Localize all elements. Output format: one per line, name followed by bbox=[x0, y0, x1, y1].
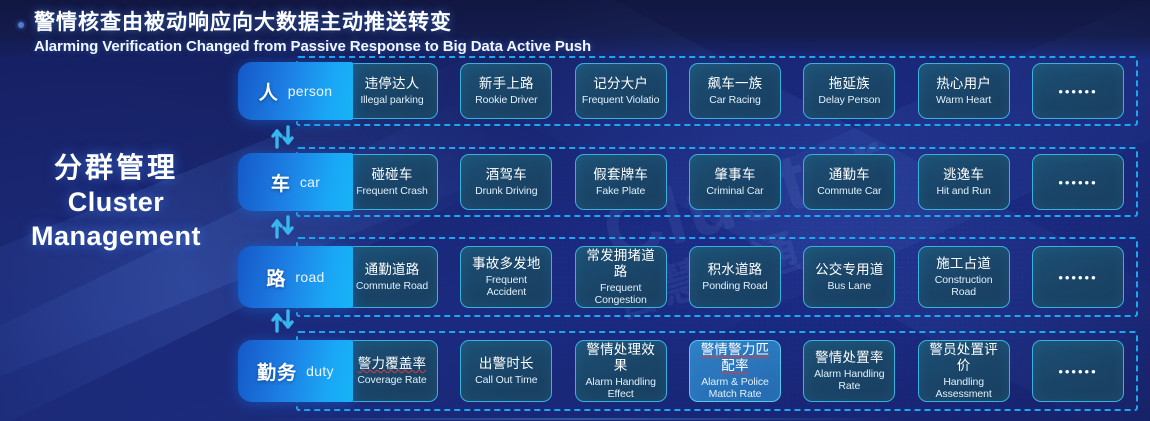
card-label-en: Ponding Road bbox=[702, 280, 767, 292]
cluster-card[interactable]: 违停达人Illegal parking bbox=[346, 63, 438, 119]
card-label-cn: 积水道路 bbox=[708, 262, 763, 278]
row-badge-label-en: person bbox=[288, 83, 333, 99]
card-more[interactable]: •••••• bbox=[1032, 63, 1124, 119]
card-label-en: Frequent Accident bbox=[465, 274, 547, 299]
card-label-en: Bus Lane bbox=[828, 280, 872, 292]
cluster-card[interactable]: 热心用户Warm Heart bbox=[918, 63, 1010, 119]
card-label-en: Frequent Violatio bbox=[582, 94, 660, 106]
page-title-en: Alarming Verification Changed from Passi… bbox=[34, 37, 591, 57]
card-label-en: Alarm Handling Effect bbox=[580, 376, 662, 401]
row-badge-duty[interactable]: 勤务duty bbox=[238, 340, 353, 402]
cluster-card[interactable]: 碰碰车Frequent Crash bbox=[346, 154, 438, 210]
card-label-en: Coverage Rate bbox=[357, 374, 426, 386]
cluster-card[interactable]: 常发拥堵道路Frequent Congestion bbox=[575, 246, 667, 308]
cluster-card[interactable]: 警情处置率Alarm Handling Rate bbox=[803, 340, 895, 402]
ellipsis-label: •••••• bbox=[1058, 364, 1097, 379]
card-label-en: Fake Plate bbox=[596, 185, 645, 197]
card-label-cn: 出警时长 bbox=[479, 356, 534, 372]
row-badge-road[interactable]: 路road bbox=[238, 246, 353, 308]
card-label-en: Commute Car bbox=[817, 185, 881, 197]
row-badge-label-cn: 勤务 bbox=[257, 358, 297, 385]
cluster-row-person: 人person违停达人Illegal parking新手上路Rookie Dri… bbox=[238, 56, 1138, 126]
cluster-card[interactable]: 警力覆盖率Coverage Rate bbox=[346, 340, 438, 402]
cluster-card[interactable]: 出警时长Call Out Time bbox=[460, 340, 552, 402]
card-label-cn: 逃逸车 bbox=[943, 167, 984, 183]
card-label-cn: 警员处置评价 bbox=[923, 342, 1005, 374]
ellipsis-label: •••••• bbox=[1058, 175, 1097, 190]
card-label-en: Warm Heart bbox=[936, 94, 991, 106]
background-glow-line bbox=[260, 418, 900, 420]
card-label-cn: 飙车一族 bbox=[708, 76, 763, 92]
row-card-list: 警力覆盖率Coverage Rate出警时长Call Out Time警情处理效… bbox=[346, 340, 1124, 402]
cluster-card[interactable]: 施工占道Construction Road bbox=[918, 246, 1010, 308]
cluster-card[interactable]: 假套牌车Fake Plate bbox=[575, 154, 667, 210]
cluster-card[interactable]: 飙车一族Car Racing bbox=[689, 63, 781, 119]
cluster-card[interactable]: 警情警力匹配率Alarm & Police Match Rate bbox=[689, 340, 781, 402]
card-label-en: Hit and Run bbox=[936, 185, 990, 197]
cluster-card[interactable]: 积水道路Ponding Road bbox=[689, 246, 781, 308]
row-badge-person[interactable]: 人person bbox=[238, 62, 353, 120]
row-badge-label-en: road bbox=[295, 269, 324, 285]
page-title-cn: 警情核查由被动响应向大数据主动推送转变 bbox=[34, 10, 591, 36]
cluster-card[interactable]: 新手上路Rookie Driver bbox=[460, 63, 552, 119]
cluster-card[interactable]: 警情处理效果Alarm Handling Effect bbox=[575, 340, 667, 402]
cluster-card[interactable]: 通勤道路Commute Road bbox=[346, 246, 438, 308]
card-more[interactable]: •••••• bbox=[1032, 154, 1124, 210]
card-label-en: Delay Person bbox=[818, 94, 880, 106]
row-badge-label-en: duty bbox=[306, 363, 334, 379]
cluster-card[interactable]: 拖延族Delay Person bbox=[803, 63, 895, 119]
card-label-cn: 警力覆盖率 bbox=[358, 356, 427, 372]
card-label-en: Drunk Driving bbox=[475, 185, 537, 197]
page-header: 警情核查由被动响应向大数据主动推送转变 Alarming Verificatio… bbox=[14, 10, 591, 57]
card-label-cn: 肇事车 bbox=[714, 167, 755, 183]
up-down-arrow-icon bbox=[270, 309, 296, 333]
section-title-cn: 分群管理 bbox=[0, 150, 232, 186]
cluster-card[interactable]: 记分大户Frequent Violatio bbox=[575, 63, 667, 119]
card-label-cn: 施工占道 bbox=[936, 256, 991, 272]
cluster-card[interactable]: 事故多发地Frequent Accident bbox=[460, 246, 552, 308]
bullet-dot-icon bbox=[18, 22, 24, 28]
card-label-en: Construction Road bbox=[923, 274, 1005, 299]
row-badge-car[interactable]: 车car bbox=[238, 153, 353, 211]
card-label-en: Alarm Handling Rate bbox=[808, 368, 890, 393]
card-label-en: Call Out Time bbox=[475, 374, 537, 386]
row-badge-label-en: car bbox=[300, 174, 320, 190]
card-label-cn: 警情处置率 bbox=[815, 350, 884, 366]
card-more[interactable]: •••••• bbox=[1032, 340, 1124, 402]
card-label-cn: 警情警力匹配率 bbox=[694, 342, 776, 374]
row-card-list: 违停达人Illegal parking新手上路Rookie Driver记分大户… bbox=[346, 63, 1124, 119]
card-label-cn: 新手上路 bbox=[479, 76, 534, 92]
card-more[interactable]: •••••• bbox=[1032, 246, 1124, 308]
row-badge-label-cn: 人 bbox=[259, 78, 279, 105]
card-label-en: Illegal parking bbox=[360, 94, 423, 106]
row-badge-label-cn: 车 bbox=[271, 169, 291, 196]
card-label-en: Commute Road bbox=[356, 280, 428, 292]
card-label-cn: 常发拥堵道路 bbox=[580, 248, 662, 280]
up-down-arrow-icon bbox=[270, 125, 296, 149]
card-label-en: Rookie Driver bbox=[475, 94, 537, 106]
card-label-cn: 事故多发地 bbox=[472, 256, 541, 272]
card-label-en: Criminal Car bbox=[706, 185, 763, 197]
ellipsis-label: •••••• bbox=[1058, 84, 1097, 99]
cluster-row-road: 路road通勤道路Commute Road事故多发地Frequent Accid… bbox=[238, 237, 1138, 317]
card-label-cn: 假套牌车 bbox=[593, 167, 648, 183]
cluster-card[interactable]: 逃逸车Hit and Run bbox=[918, 154, 1010, 210]
cluster-card[interactable]: 酒驾车Drunk Driving bbox=[460, 154, 552, 210]
card-label-cn: 碰碰车 bbox=[371, 167, 412, 183]
card-label-cn: 酒驾车 bbox=[486, 167, 527, 183]
section-title-en-line2: Management bbox=[0, 220, 232, 254]
card-label-en: Handling Assessment bbox=[923, 376, 1005, 401]
cluster-card[interactable]: 肇事车Criminal Car bbox=[689, 154, 781, 210]
row-card-list: 碰碰车Frequent Crash酒驾车Drunk Driving假套牌车Fak… bbox=[346, 154, 1124, 210]
card-label-cn: 违停达人 bbox=[365, 76, 420, 92]
card-label-cn: 拖延族 bbox=[829, 76, 870, 92]
card-label-cn: 通勤道路 bbox=[365, 262, 420, 278]
row-card-list: 通勤道路Commute Road事故多发地Frequent Accident常发… bbox=[346, 246, 1124, 308]
cluster-card[interactable]: 通勤车Commute Car bbox=[803, 154, 895, 210]
card-label-en: Car Racing bbox=[709, 94, 761, 106]
row-badge-label-cn: 路 bbox=[266, 264, 286, 291]
cluster-card[interactable]: 警员处置评价Handling Assessment bbox=[918, 340, 1010, 402]
cluster-card[interactable]: 公交专用道Bus Lane bbox=[803, 246, 895, 308]
section-title-en-line1: Cluster bbox=[0, 186, 232, 220]
cluster-row-car: 车car碰碰车Frequent Crash酒驾车Drunk Driving假套牌… bbox=[238, 147, 1138, 217]
card-label-cn: 记分大户 bbox=[593, 76, 648, 92]
card-label-en: Frequent Crash bbox=[356, 185, 428, 197]
ellipsis-label: •••••• bbox=[1058, 270, 1097, 285]
card-label-en: Alarm & Police Match Rate bbox=[694, 376, 776, 401]
up-down-arrow-icon bbox=[270, 215, 296, 239]
card-label-cn: 公交专用道 bbox=[815, 262, 884, 278]
section-title: 分群管理 Cluster Management bbox=[0, 150, 232, 254]
card-label-en: Frequent Congestion bbox=[580, 282, 662, 307]
card-label-cn: 热心用户 bbox=[936, 76, 991, 92]
card-label-cn: 警情处理效果 bbox=[580, 342, 662, 374]
cluster-row-duty: 勤务duty警力覆盖率Coverage Rate出警时长Call Out Tim… bbox=[238, 331, 1138, 411]
card-label-cn: 通勤车 bbox=[829, 167, 870, 183]
